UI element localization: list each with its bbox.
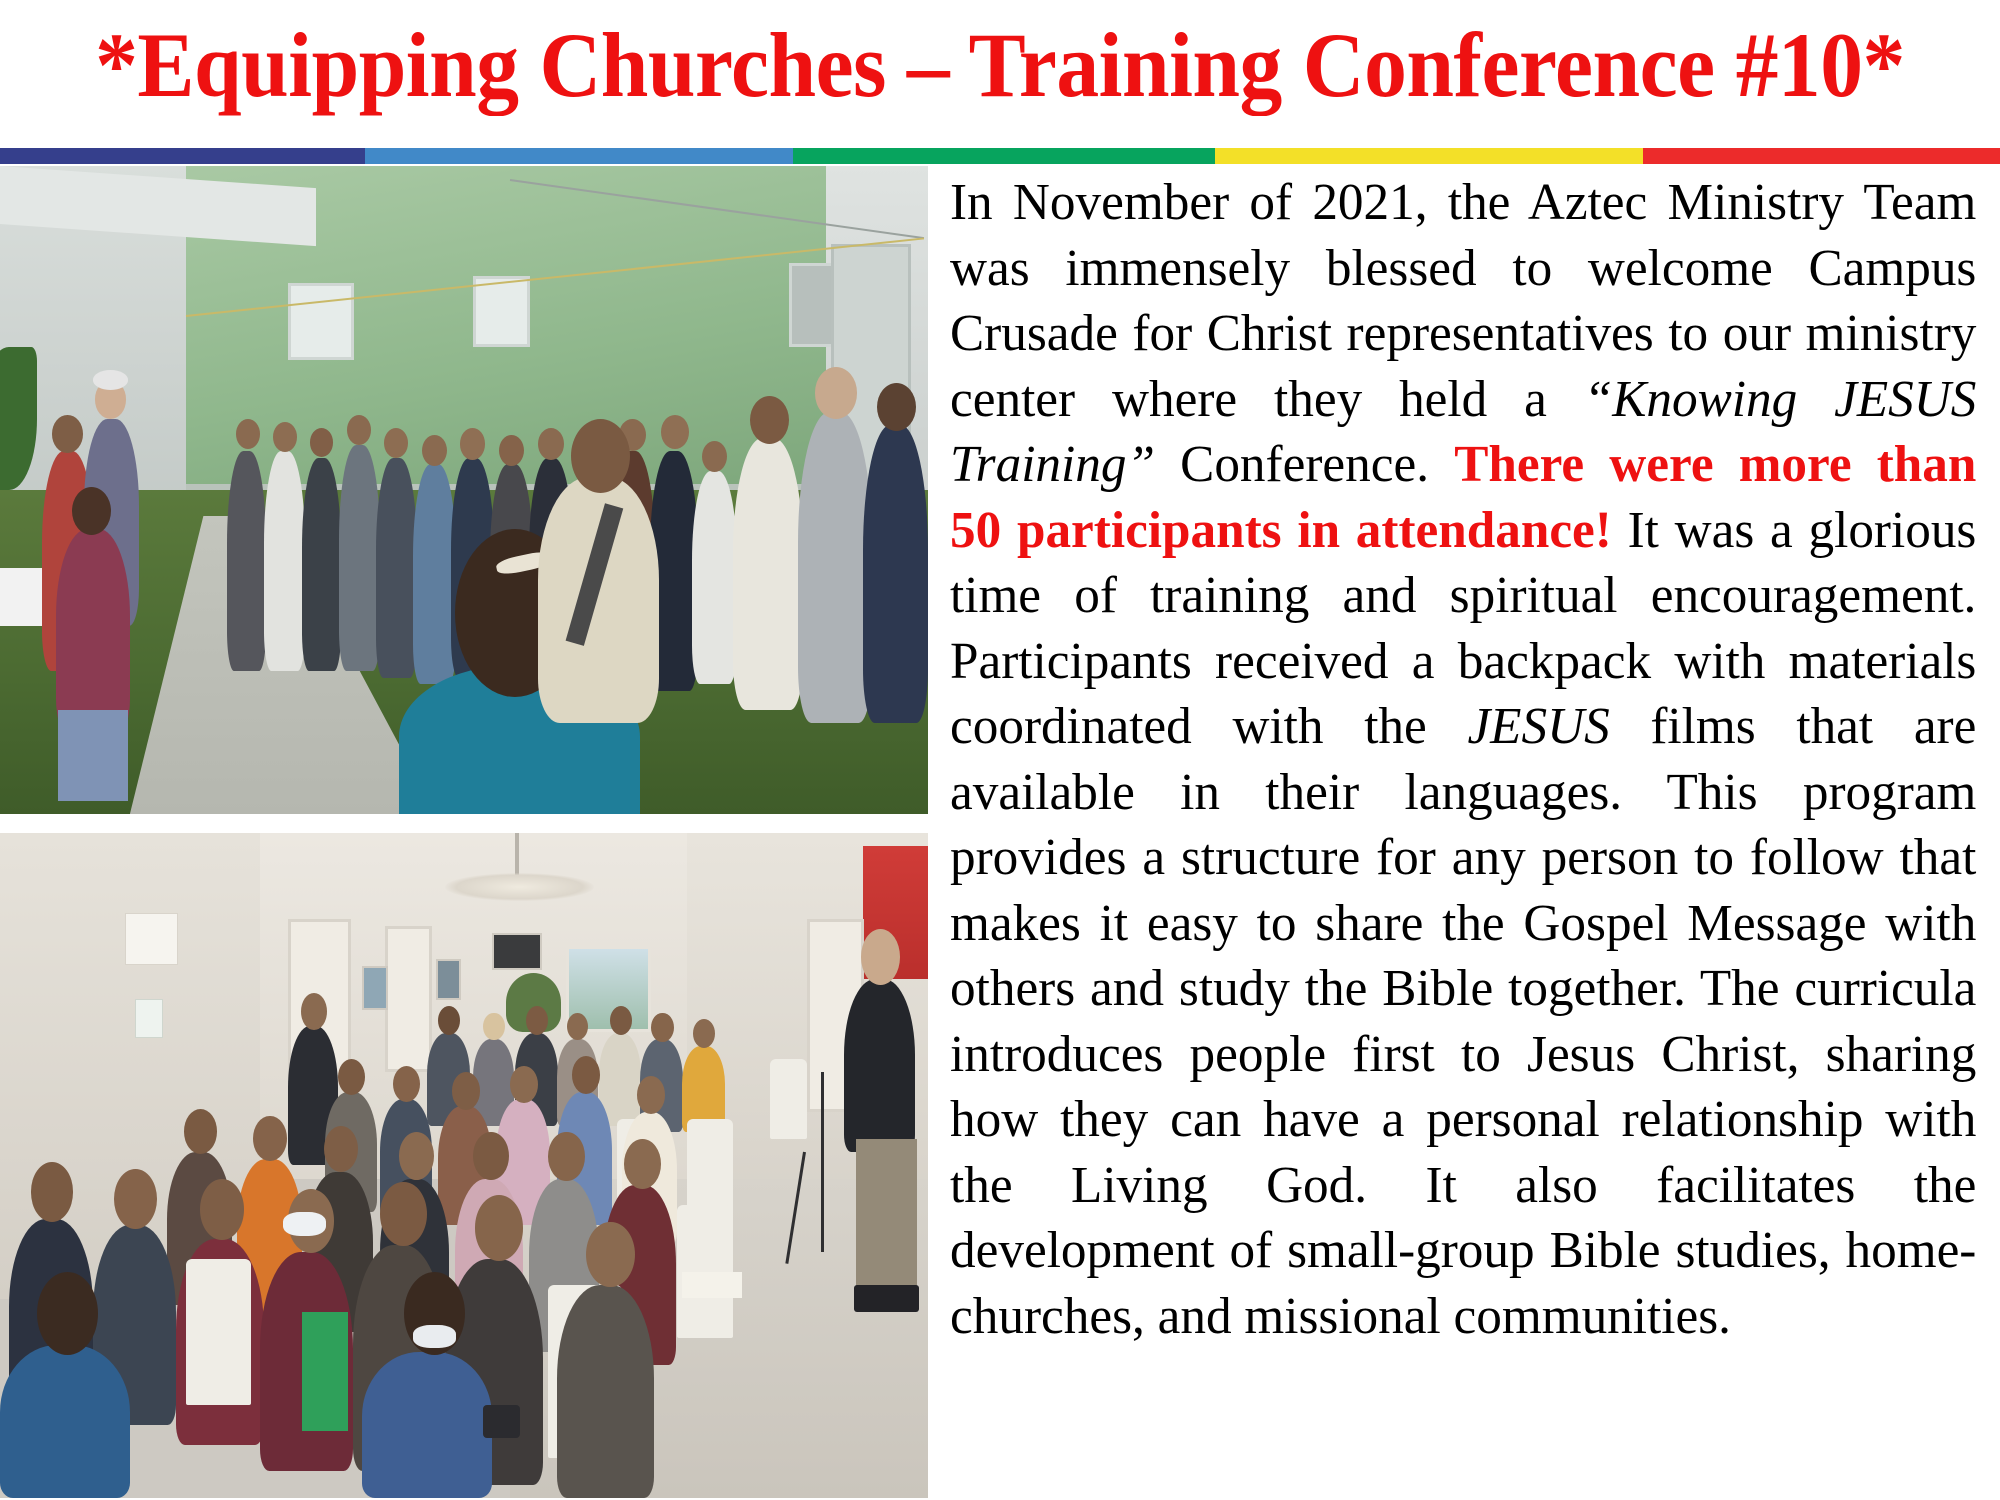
jesus-films-emphasis: JESUS	[1467, 698, 1609, 755]
divider-segment-green	[793, 148, 1215, 164]
text-column: In November of 2021, the Aztec Ministry …	[928, 164, 2000, 1349]
divider-segment-navy	[0, 148, 365, 164]
article-part-2: Conference.	[1155, 436, 1454, 493]
five-color-divider	[0, 148, 2000, 164]
article-body: In November of 2021, the Aztec Ministry …	[950, 170, 1976, 1349]
page-header: *Equipping Churches – Training Conferenc…	[0, 0, 2000, 148]
page-title: *Equipping Churches – Training Conferenc…	[95, 19, 1905, 111]
indoor-session-photo	[0, 833, 928, 1498]
divider-segment-red	[1643, 148, 2000, 164]
photo-gap	[0, 814, 928, 833]
photo-column	[0, 164, 928, 1498]
article-part-4: films that are available in their langua…	[950, 698, 1976, 1345]
divider-segment-light-blue	[365, 148, 793, 164]
outdoor-group-photo	[0, 166, 928, 814]
content-area: In November of 2021, the Aztec Ministry …	[0, 164, 2000, 1500]
divider-segment-yellow	[1215, 148, 1643, 164]
